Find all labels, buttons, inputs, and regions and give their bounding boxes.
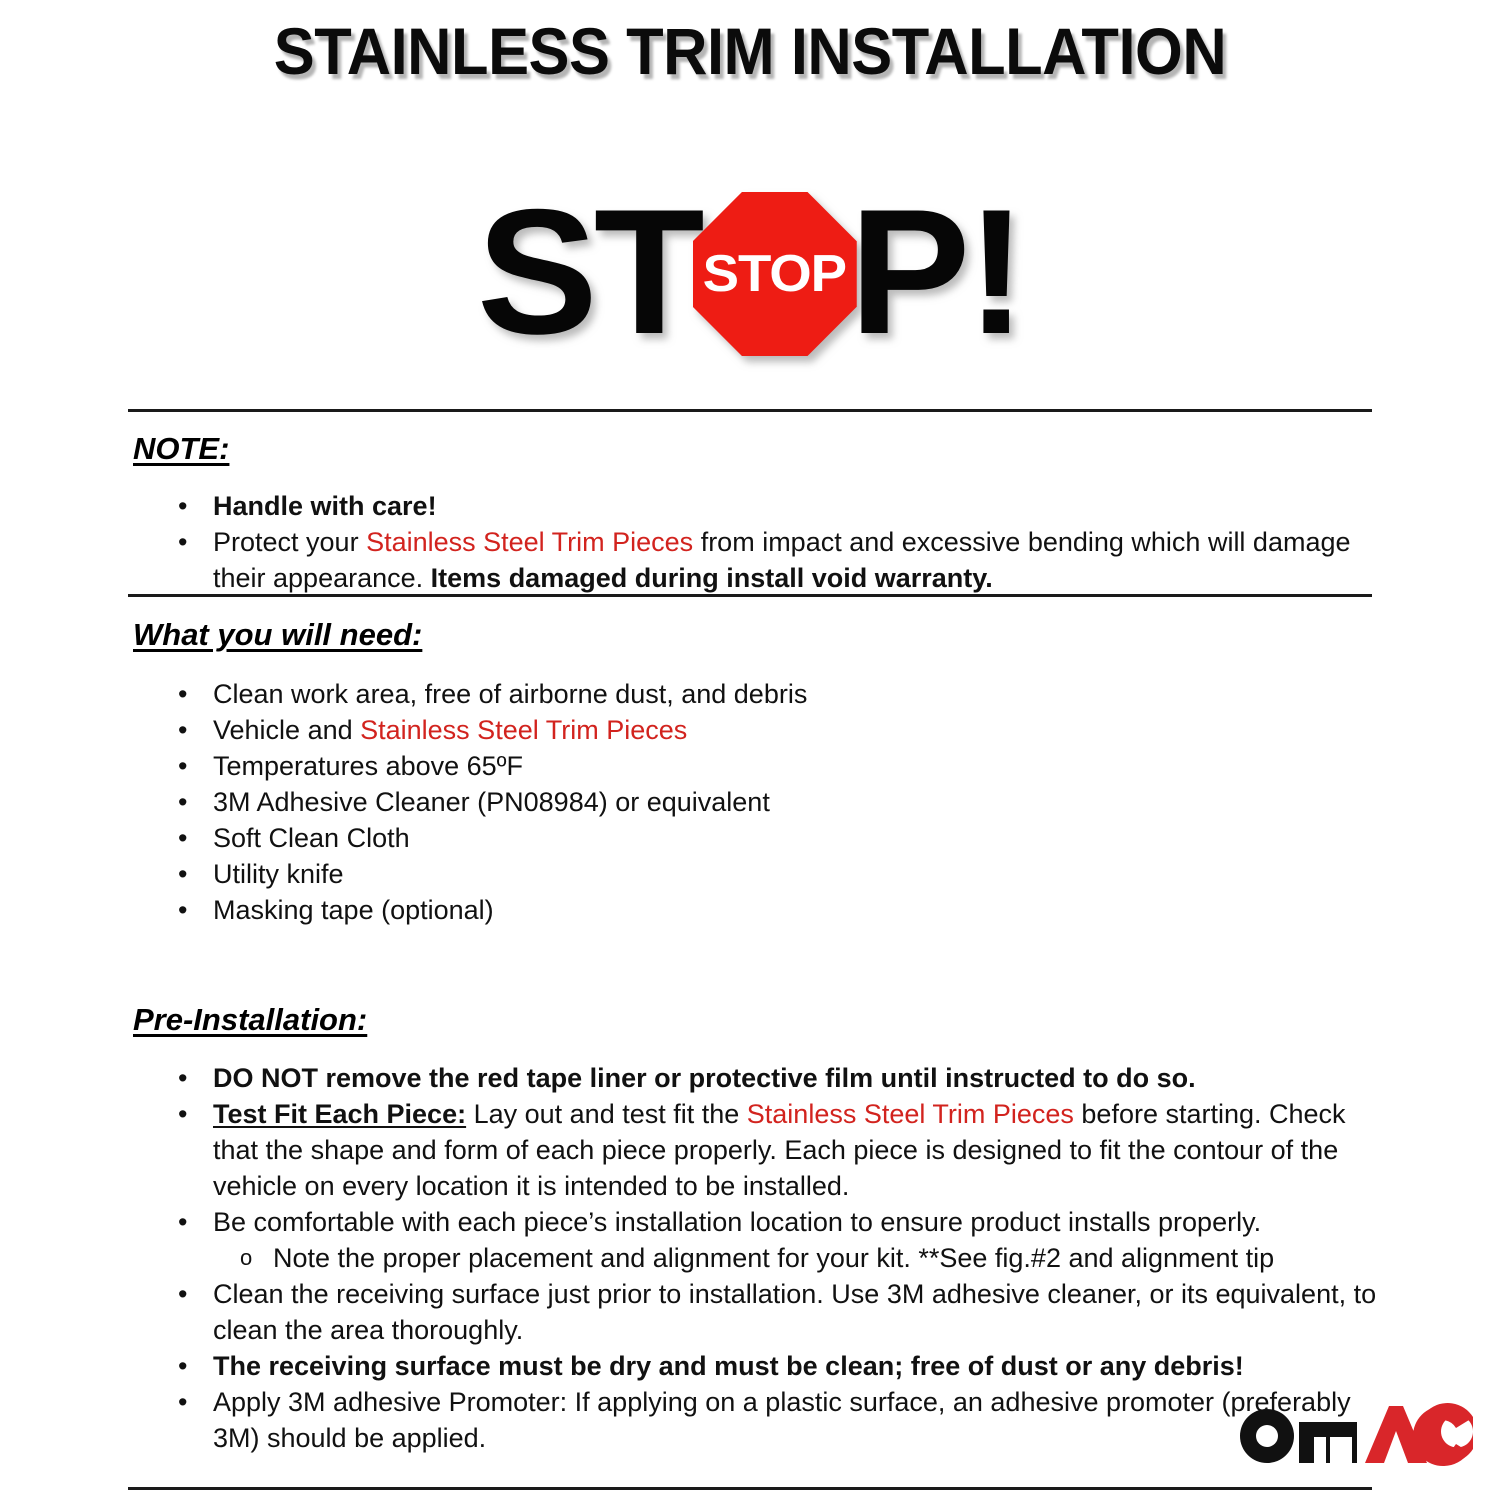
list-item-text: Temperatures above 65ºF — [213, 748, 1380, 784]
list-item-text: Test Fit Each Piece: Lay out and test fi… — [213, 1096, 1380, 1204]
stop-sign-label: STOP — [703, 248, 846, 300]
bullet-marker: • — [178, 784, 196, 820]
omac-logo — [1237, 1400, 1475, 1466]
list-item-text: Vehicle and Stainless Steel Trim Pieces — [213, 712, 1380, 748]
list-item-text: The receiving surface must be dry and mu… — [213, 1348, 1380, 1384]
list-item: •Clean the receiving surface just prior … — [0, 1276, 1500, 1348]
list-item: •Utility knife — [0, 856, 1500, 892]
list-item-text: Clean the receiving surface just prior t… — [213, 1276, 1380, 1348]
highlight-text: Stainless Steel Trim Pieces — [360, 715, 687, 745]
list-item: •Masking tape (optional) — [0, 892, 1500, 928]
needs-list: •Clean work area, free of airborne dust,… — [0, 676, 1500, 928]
list-item: •Soft Clean Cloth — [0, 820, 1500, 856]
list-item-text: Clean work area, free of airborne dust, … — [213, 676, 1380, 712]
bullet-marker: • — [178, 1060, 196, 1096]
list-item-text: Protect your Stainless Steel Trim Pieces… — [213, 524, 1380, 596]
list-item: •Protect your Stainless Steel Trim Piece… — [0, 524, 1500, 596]
bullet-marker: • — [178, 1384, 196, 1420]
stop-letters-left: ST — [477, 183, 701, 361]
bullet-marker: • — [178, 676, 196, 712]
list-item-text: Handle with care! — [213, 488, 1380, 524]
bullet-marker: • — [178, 524, 196, 560]
stop-sign-icon: STOP — [693, 192, 857, 356]
list-item: •Vehicle and Stainless Steel Trim Pieces — [0, 712, 1500, 748]
heading-pre-installation: Pre-Installation: — [133, 1002, 367, 1038]
list-item: •3M Adhesive Cleaner (PN08984) or equiva… — [0, 784, 1500, 820]
stop-letters-right: P! — [849, 183, 1022, 361]
list-item-text: Utility knife — [213, 856, 1380, 892]
bullet-marker: • — [178, 820, 196, 856]
needs-section: •Clean work area, free of airborne dust,… — [0, 676, 1500, 928]
note-list: •Handle with care!•Protect your Stainles… — [0, 488, 1500, 596]
bullet-marker: • — [178, 488, 196, 524]
bullet-marker: • — [178, 856, 196, 892]
list-item: •DO NOT remove the red tape liner or pro… — [0, 1060, 1500, 1096]
list-item-text: Note the proper placement and alignment … — [273, 1240, 1380, 1276]
list-item: •Clean work area, free of airborne dust,… — [0, 676, 1500, 712]
bullet-marker: • — [178, 1204, 196, 1240]
list-item-text: Apply 3M adhesive Promoter: If applying … — [213, 1384, 1380, 1456]
bullet-marker: • — [178, 1348, 196, 1384]
page-title: STAINLESS TRIM INSTALLATION — [53, 8, 1448, 94]
divider-bottom — [128, 1487, 1372, 1490]
list-item-text: Masking tape (optional) — [213, 892, 1380, 928]
bullet-marker: • — [178, 1276, 196, 1312]
list-item: •The receiving surface must be dry and m… — [0, 1348, 1500, 1384]
pre-installation-section: •DO NOT remove the red tape liner or pro… — [0, 1060, 1500, 1456]
bullet-marker: • — [178, 892, 196, 928]
list-item-text: 3M Adhesive Cleaner (PN08984) or equival… — [213, 784, 1380, 820]
highlight-text: Stainless Steel Trim Pieces — [366, 527, 693, 557]
heading-what-you-will-need: What you will need: — [133, 617, 422, 653]
list-item: •Temperatures above 65ºF — [0, 748, 1500, 784]
pre-installation-list: •DO NOT remove the red tape liner or pro… — [0, 1060, 1500, 1456]
list-item: •Test Fit Each Piece: Lay out and test f… — [0, 1096, 1500, 1204]
list-item-text: Be comfortable with each piece’s install… — [213, 1204, 1380, 1240]
divider-top — [128, 409, 1372, 412]
stop-graphic: ST STOP P! — [0, 172, 1500, 372]
list-item: •Handle with care! — [0, 488, 1500, 524]
list-item: •Be comfortable with each piece’s instal… — [0, 1204, 1500, 1240]
sub-bullet-marker: o — [240, 1240, 258, 1276]
bullet-marker: • — [178, 748, 196, 784]
stop-wordmark: ST STOP P! — [479, 183, 1020, 361]
bullet-marker: • — [178, 1096, 196, 1132]
document-page: STAINLESS TRIM INSTALLATION ST STOP P! N… — [0, 0, 1500, 1500]
sub-list-item: oNote the proper placement and alignment… — [0, 1240, 1500, 1276]
heading-note: NOTE: — [133, 431, 229, 467]
bullet-marker: • — [178, 712, 196, 748]
list-item-text: DO NOT remove the red tape liner or prot… — [213, 1060, 1380, 1096]
list-item-text: Soft Clean Cloth — [213, 820, 1380, 856]
highlight-text: Stainless Steel Trim Pieces — [747, 1099, 1074, 1129]
note-section: •Handle with care!•Protect your Stainles… — [0, 488, 1500, 596]
